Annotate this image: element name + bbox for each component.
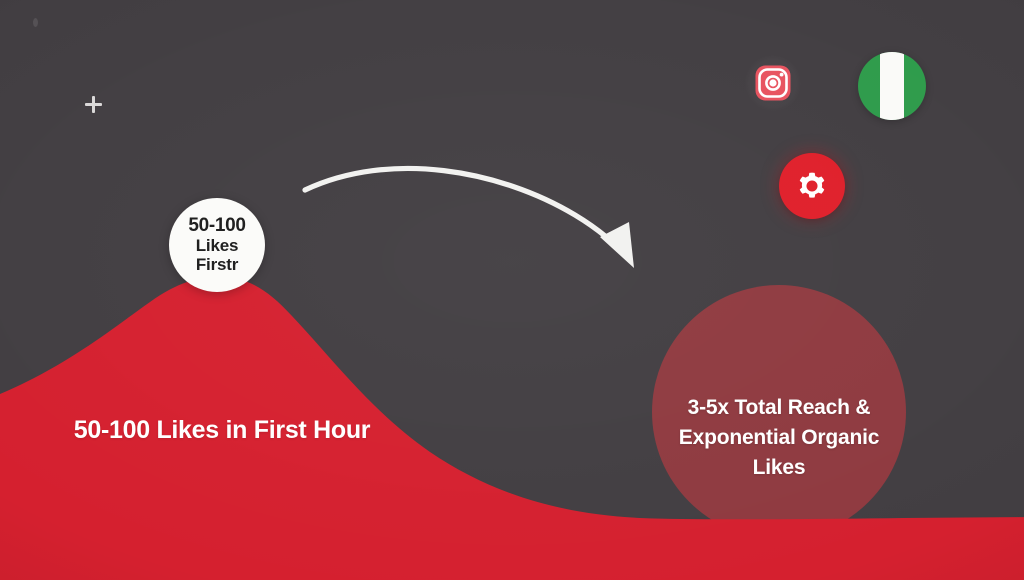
instagram-badge[interactable] — [745, 55, 801, 111]
gear-icon — [793, 167, 831, 205]
background-speck — [33, 18, 38, 27]
curved-flow-arrow — [305, 168, 634, 268]
nigeria-flag-badge[interactable] — [858, 52, 926, 120]
callout-line-1: 50-100 — [188, 216, 245, 237]
orb-caption: 3-5x Total Reach & Exponential Organic L… — [655, 393, 903, 482]
wave-caption: 50-100 Likes in First Hour — [72, 414, 372, 447]
gear-badge[interactable] — [779, 153, 845, 219]
callout-line-2: Likes — [196, 236, 238, 255]
infographic-canvas: 50-100 Likes Firstr 50-100 Likes in Firs… — [0, 0, 1024, 580]
instagram-icon — [753, 63, 793, 103]
plus-marker-icon — [85, 96, 102, 113]
nigeria-flag-icon — [880, 52, 904, 120]
callout-line-3: Firstr — [196, 255, 238, 274]
first-hour-callout-badge[interactable]: 50-100 Likes Firstr — [169, 198, 265, 292]
